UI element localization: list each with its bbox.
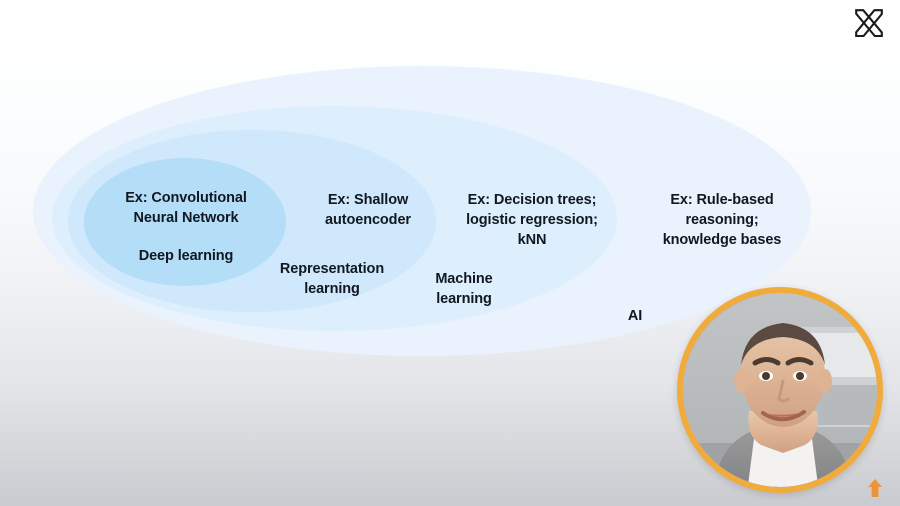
category-label-ai: AI: [592, 306, 678, 326]
example-label-ai: Ex: Rule-based reasoning; knowledge base…: [630, 190, 814, 250]
example-label-representation-learning: Ex: Shallow autoencoder: [290, 190, 446, 230]
category-label-machine-learning: Machine learning: [390, 269, 538, 309]
x-monogram-logo-icon: [852, 6, 886, 40]
presenter-video-feed: [683, 293, 877, 487]
slide-canvas: Ex: Convolutional Neural Network Ex: Sha…: [0, 0, 900, 506]
category-label-representation-learning: Representation learning: [254, 259, 410, 299]
category-label-deep-learning: Deep learning: [105, 246, 267, 266]
example-label-machine-learning: Ex: Decision trees; logistic regression;…: [440, 190, 624, 250]
orange-arrow-glyph-icon: [866, 478, 884, 498]
example-label-deep-learning: Ex: Convolutional Neural Network: [105, 188, 267, 228]
presenter-webcam[interactable]: [677, 287, 883, 493]
